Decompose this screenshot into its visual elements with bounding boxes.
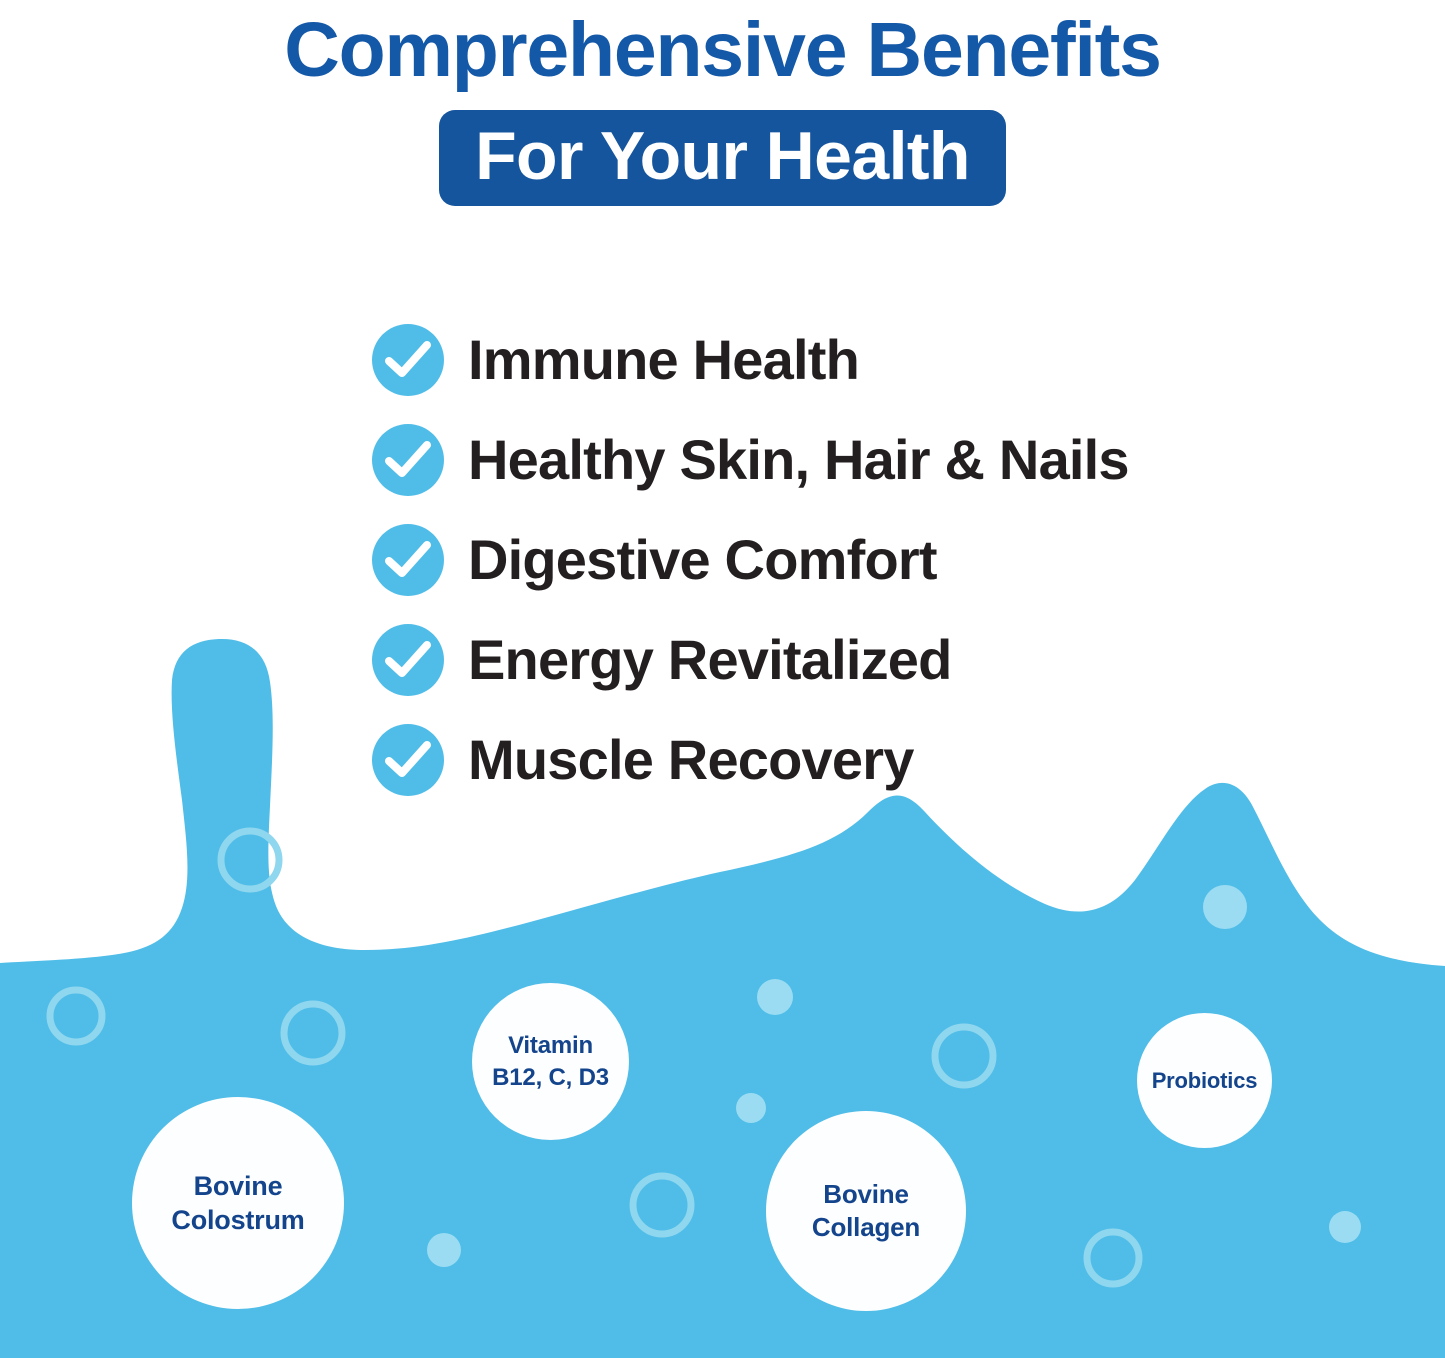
- ingredient-label-line2: Collagen: [812, 1211, 920, 1244]
- benefit-item-muscle-recovery: Muscle Recovery: [372, 710, 1129, 810]
- bubble-ring-icon: [284, 1004, 342, 1062]
- bubble-ring-icon: [1087, 1232, 1139, 1284]
- benefit-label: Muscle Recovery: [468, 729, 914, 791]
- check-icon: [372, 724, 444, 796]
- benefits-list: Immune Health Healthy Skin, Hair & Nails…: [372, 310, 1129, 810]
- title-badge: For Your Health: [439, 110, 1006, 206]
- bubble-ring-icon: [935, 1027, 993, 1085]
- bubble-fill-icon: [1329, 1211, 1361, 1243]
- bubble-ring-icon: [221, 831, 279, 889]
- benefit-item-immune-health: Immune Health: [372, 310, 1129, 410]
- ingredient-bubble-bovine-collagen: Bovine Collagen: [766, 1111, 966, 1311]
- bubble-fill-icon: [757, 979, 793, 1015]
- header: Comprehensive Benefits For Your Health: [0, 0, 1445, 206]
- benefit-label: Immune Health: [468, 329, 859, 391]
- benefit-item-energy-revitalized: Energy Revitalized: [372, 610, 1129, 710]
- check-icon: [372, 524, 444, 596]
- infographic-canvas: Comprehensive Benefits For Your Health I…: [0, 0, 1445, 1358]
- ingredient-label-line1: Vitamin: [492, 1030, 609, 1062]
- check-icon: [372, 424, 444, 496]
- benefit-item-healthy-skin-hair-nails: Healthy Skin, Hair & Nails: [372, 410, 1129, 510]
- ingredient-label-line1: Probiotics: [1152, 1067, 1258, 1095]
- page-title: Comprehensive Benefits: [0, 6, 1445, 94]
- bubble-fill-icon: [1203, 885, 1247, 929]
- ingredient-label-line1: Bovine: [171, 1169, 304, 1203]
- ingredient-label-line2: Colostrum: [171, 1203, 304, 1237]
- bubble-ring-icon: [633, 1176, 691, 1234]
- benefit-label: Healthy Skin, Hair & Nails: [468, 429, 1129, 491]
- check-icon: [372, 624, 444, 696]
- ingredient-label-line2: B12, C, D3: [492, 1062, 609, 1094]
- check-icon: [372, 324, 444, 396]
- ingredient-label-line1: Bovine: [812, 1178, 920, 1211]
- benefit-label: Digestive Comfort: [468, 529, 937, 591]
- bubble-ring-icon: [50, 990, 102, 1042]
- ingredient-bubble-vitamin-b12-c-d3: Vitamin B12, C, D3: [472, 983, 629, 1140]
- benefit-label: Energy Revitalized: [468, 629, 952, 691]
- ingredient-bubble-bovine-colostrum: Bovine Colostrum: [132, 1097, 344, 1309]
- ingredient-bubble-probiotics: Probiotics: [1137, 1013, 1272, 1148]
- benefit-item-digestive-comfort: Digestive Comfort: [372, 510, 1129, 610]
- bubble-fill-icon: [427, 1233, 461, 1267]
- bubble-fill-icon: [736, 1093, 766, 1123]
- title-badge-wrap: For Your Health: [0, 110, 1445, 206]
